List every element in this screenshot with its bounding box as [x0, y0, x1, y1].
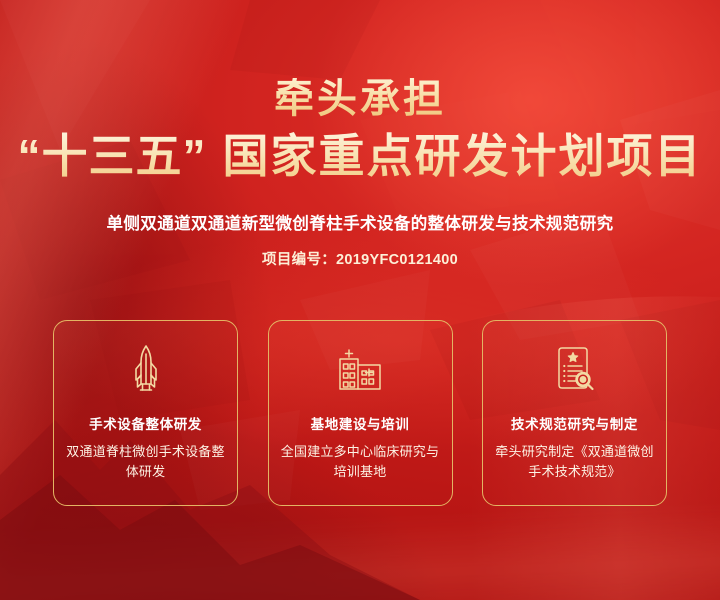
hospital-icon: [336, 343, 384, 395]
card-title: 手术设备整体研发: [89, 413, 202, 433]
rocket-icon: [122, 343, 170, 395]
highlight-card-list: 手术设备整体研发 双通道脊柱微创手术设备整体研发: [53, 320, 667, 506]
poster-title-quoted: “十三五”: [18, 130, 207, 182]
poster-canvas: 牵头承担 “十三五”国家重点研发计划项目 单侧双通道双通道新型微创脊柱手术设备的…: [0, 0, 720, 600]
card-title: 技术规范研究与制定: [511, 413, 638, 433]
project-number: 项目编号：2019YFC0121400: [0, 248, 720, 269]
highlight-card-tech-standard[interactable]: 技术规范研究与制定 牵头研究制定《双通道微创手术技术规范》: [482, 320, 667, 506]
poster-title-line-2: “十三五”国家重点研发计划项目: [0, 131, 720, 182]
card-description: 牵头研究制定《双通道微创手术技术规范》: [491, 442, 659, 482]
highlight-card-device-rd[interactable]: 手术设备整体研发 双通道脊柱微创手术设备整体研发: [53, 320, 238, 506]
highlight-card-base-training[interactable]: 基地建设与培训 全国建立多中心临床研究与培训基地: [268, 320, 453, 506]
document-search-icon: [551, 343, 599, 395]
poster-title-line-1: 牵头承担: [274, 78, 446, 121]
poster-title-rest: 国家重点研发计划项目: [223, 130, 703, 182]
headline-block: 牵头承担 “十三五”国家重点研发计划项目: [0, 78, 720, 182]
card-description: 全国建立多中心临床研究与培训基地: [276, 442, 444, 482]
poster-subtitle: 单侧双通道双通道新型微创脊柱手术设备的整体研发与技术规范研究: [0, 210, 720, 234]
card-description: 双通道脊柱微创手术设备整体研发: [62, 442, 230, 482]
card-title: 基地建设与培训: [311, 413, 410, 433]
